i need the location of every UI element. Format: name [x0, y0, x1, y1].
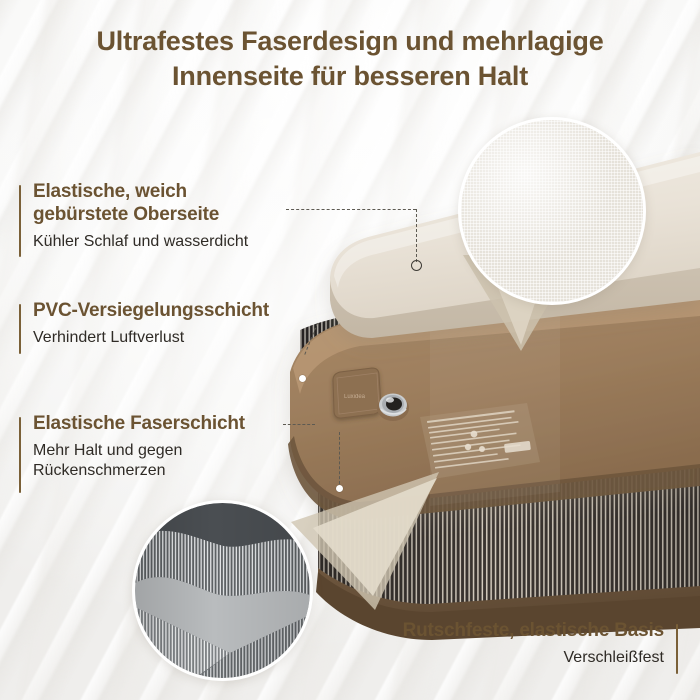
callout-heading: Rutschfeste, elastische Basis	[403, 620, 664, 643]
callout-pvc-layer: PVC-Versiegelungsschicht Verhindert Luft…	[19, 300, 269, 348]
callout-heading: Elastische Faserschicht	[33, 413, 245, 436]
callout-accent-bar	[19, 185, 21, 257]
callout-accent-bar	[19, 304, 21, 354]
svg-text:Luxidea: Luxidea	[344, 394, 366, 400]
callout-subtext: Verschleißfest	[403, 648, 664, 668]
callout-fiber-layer: Elastische Faserschicht Mehr Halt und ge…	[19, 413, 245, 481]
magnifier-ring-fiber	[132, 500, 313, 681]
callout-accent-bar	[19, 417, 21, 493]
callout-subtext: Mehr Halt und gegen Rückenschmerzen	[33, 441, 245, 481]
callout-subtext-line1: Mehr Halt und gegen	[33, 442, 182, 459]
page-title-line2: Innenseite für besseren Halt	[40, 59, 660, 94]
callout-subtext-line2: Rückenschmerzen	[33, 462, 166, 479]
callout-subtext: Kühler Schlaf und wasserdicht	[33, 232, 248, 252]
page-title-line1: Ultrafestes Faserdesign und mehrlagige	[96, 26, 603, 56]
callout-heading-line2: gebürstete Oberseite	[33, 204, 219, 225]
callout-heading: PVC-Versiegelungsschicht	[33, 300, 269, 323]
fabric-brand-tag: Luxidea	[333, 368, 381, 418]
magnifier-ring-weave	[458, 117, 646, 305]
infographic-canvas: Luxidea	[0, 0, 700, 700]
callout-accent-bar	[676, 624, 678, 674]
page-title: Ultrafestes Faserdesign und mehrlagige I…	[0, 24, 700, 93]
callout-heading-line1: Elastische, weich	[33, 181, 187, 202]
callout-base-layer: Rutschfeste, elastische Basis Verschleiß…	[403, 620, 678, 668]
callout-top-surface: Elastische, weich gebürstete Oberseite K…	[19, 181, 248, 252]
callout-heading: Elastische, weich gebürstete Oberseite	[33, 181, 248, 227]
callout-subtext: Verhindert Luftverlust	[33, 328, 269, 348]
